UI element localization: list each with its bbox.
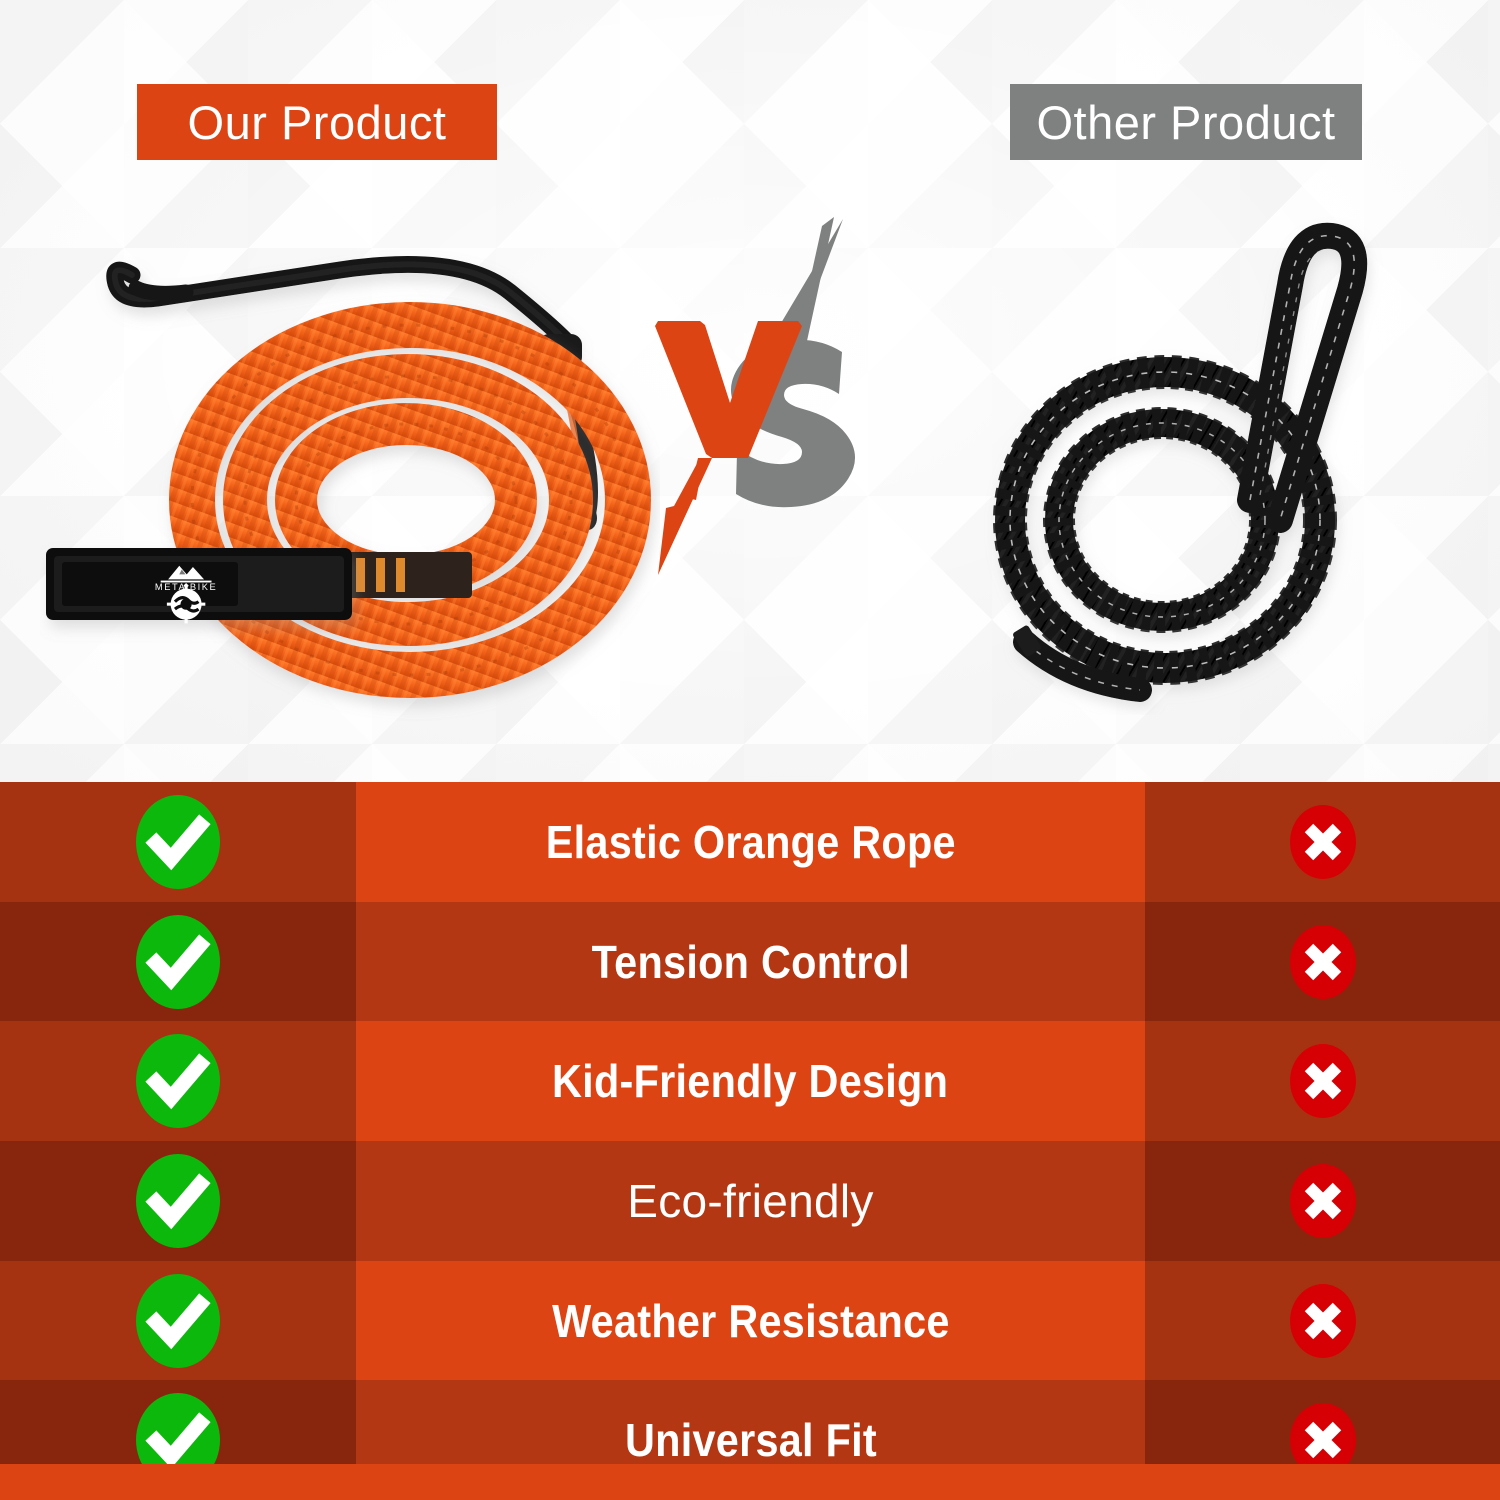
feature-label: Weather Resistance bbox=[552, 1294, 950, 1348]
check-icon bbox=[136, 795, 220, 889]
feature-comparison-table: Elastic Orange Rope Tension Control bbox=[0, 782, 1500, 1500]
orange-webbing-tail bbox=[340, 552, 472, 598]
bottom-accent-strip bbox=[0, 1464, 1500, 1500]
our-product-header: Our Product bbox=[137, 84, 497, 160]
our-product-cell bbox=[0, 782, 356, 902]
table-row: Eco-friendly bbox=[0, 1141, 1500, 1261]
black-velcro-strap: META BIKE bbox=[46, 548, 352, 623]
table-row: Kid-Friendly Design bbox=[0, 1021, 1500, 1141]
check-icon bbox=[136, 1274, 220, 1368]
black-bungee-coil bbox=[1010, 236, 1354, 690]
table-row: Tension Control bbox=[0, 902, 1500, 1022]
feature-label: Kid-Friendly Design bbox=[552, 1054, 948, 1108]
cross-icon bbox=[1281, 1274, 1365, 1368]
other-product-cell bbox=[1145, 1141, 1500, 1261]
cross-icon bbox=[1281, 915, 1365, 1009]
feature-label: Elastic Orange Rope bbox=[545, 815, 955, 869]
our-product-image: META BIKE bbox=[40, 200, 660, 725]
cross-icon bbox=[1281, 1154, 1365, 1248]
feature-label: Tension Control bbox=[591, 935, 909, 989]
feature-cell: Tension Control bbox=[356, 902, 1145, 1022]
table-row: Elastic Orange Rope bbox=[0, 782, 1500, 902]
table-row: Weather Resistance bbox=[0, 1261, 1500, 1381]
versus-badge bbox=[630, 190, 890, 590]
other-product-cell bbox=[1145, 902, 1500, 1022]
other-product-header: Other Product bbox=[1010, 84, 1362, 160]
feature-cell: Kid-Friendly Design bbox=[356, 1021, 1145, 1141]
our-product-cell bbox=[0, 1261, 356, 1381]
versus-v-shape bbox=[655, 321, 802, 575]
cross-icon bbox=[1281, 1034, 1365, 1128]
our-product-cell bbox=[0, 1141, 356, 1261]
check-icon bbox=[136, 1034, 220, 1128]
other-product-cell bbox=[1145, 1261, 1500, 1381]
check-icon bbox=[136, 1154, 220, 1248]
feature-label: Eco-friendly bbox=[627, 1174, 873, 1228]
cross-icon bbox=[1281, 795, 1365, 889]
infographic-canvas: Our Product Other Product bbox=[0, 0, 1500, 1500]
feature-label: Universal Fit bbox=[625, 1413, 877, 1467]
coiled-orange-rope bbox=[192, 325, 628, 675]
check-icon bbox=[136, 915, 220, 1009]
feature-cell: Weather Resistance bbox=[356, 1261, 1145, 1381]
our-product-cell bbox=[0, 902, 356, 1022]
other-product-cell bbox=[1145, 782, 1500, 902]
feature-cell: Eco-friendly bbox=[356, 1141, 1145, 1261]
our-product-cell bbox=[0, 1021, 356, 1141]
feature-cell: Elastic Orange Rope bbox=[356, 782, 1145, 902]
other-product-image bbox=[930, 190, 1430, 715]
other-product-cell bbox=[1145, 1021, 1500, 1141]
